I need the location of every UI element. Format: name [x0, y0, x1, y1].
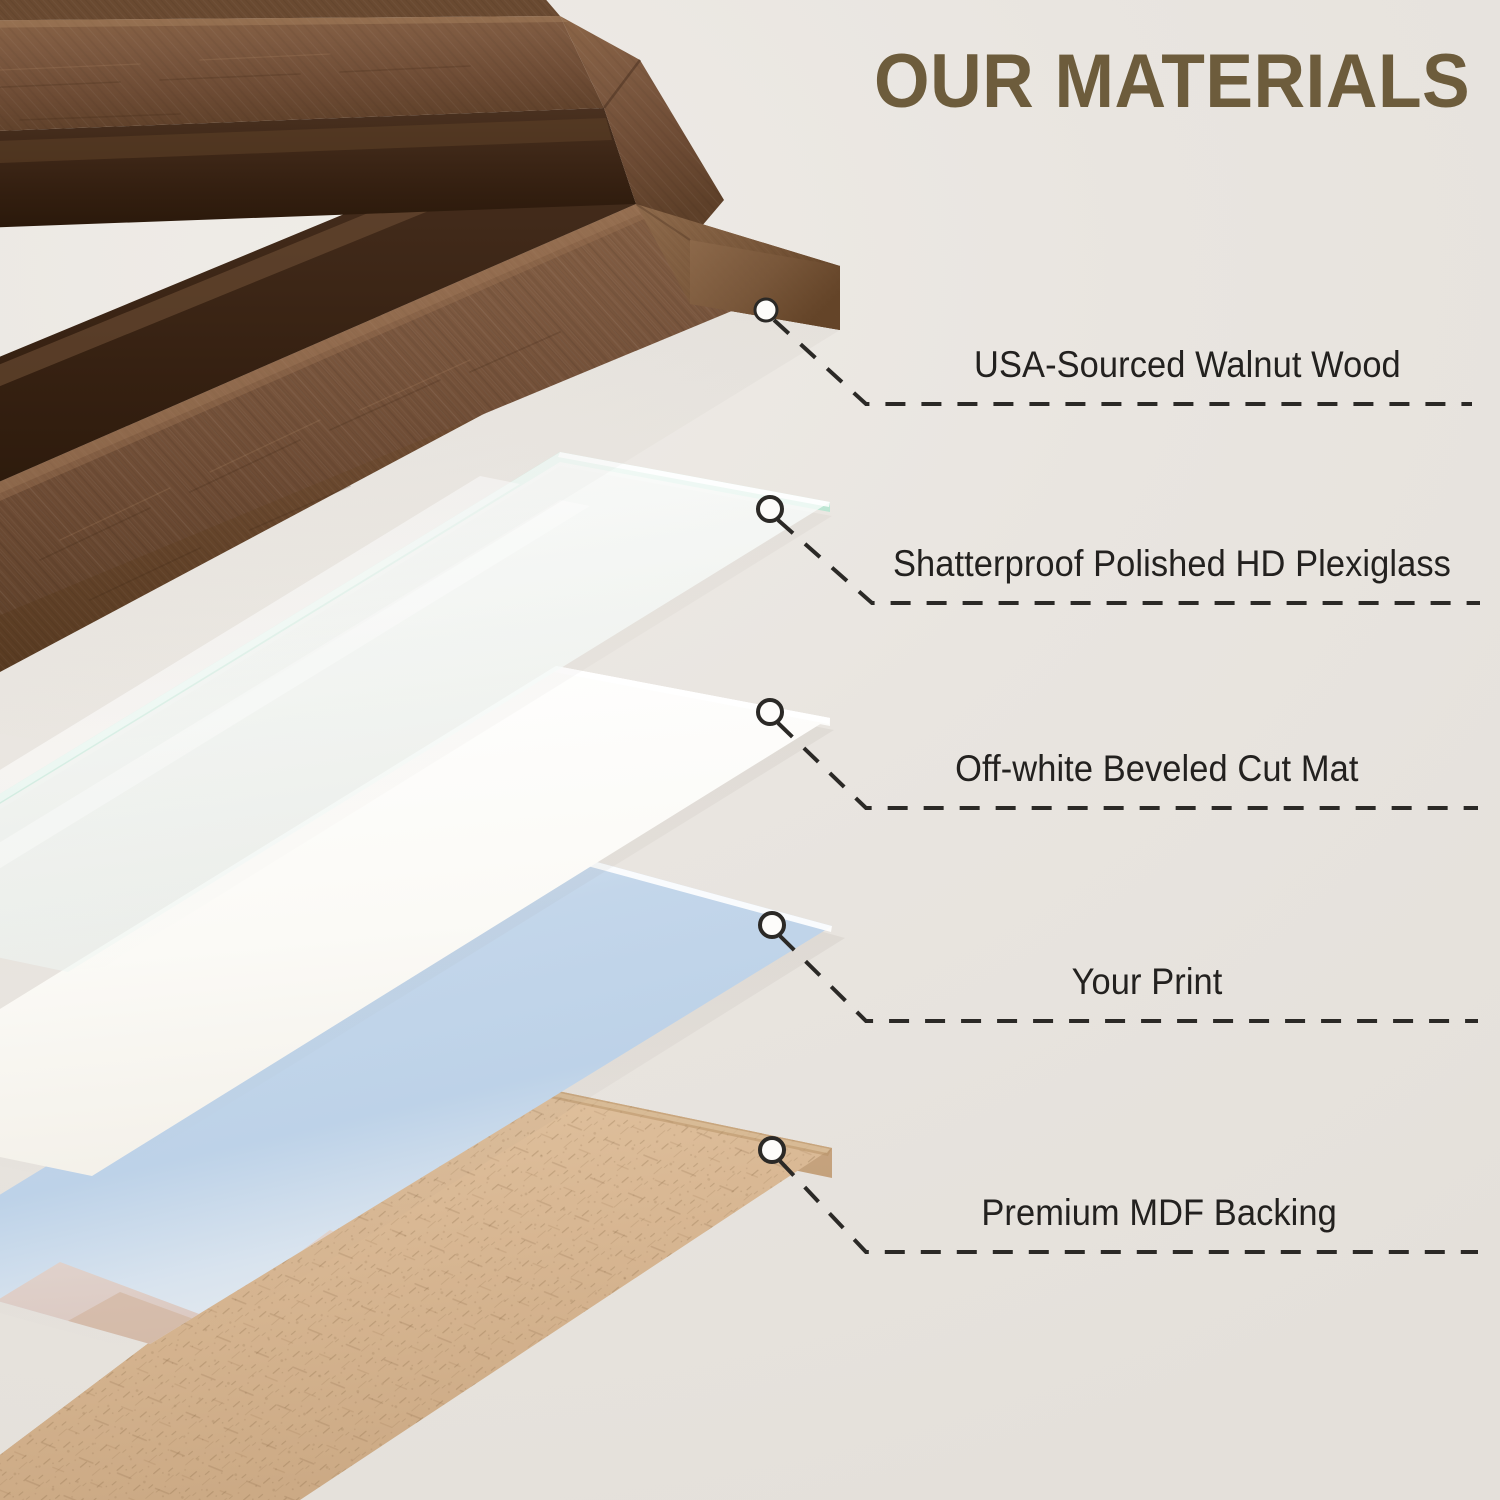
callout-leader-line-mdf-backing [0, 0, 1500, 1500]
materials-infographic: OUR MATERIALS USA-Sourced Walnut Wood Sh… [0, 0, 1500, 1500]
callout-marker-mdf-backing[interactable] [760, 1138, 784, 1162]
callout-label-mdf-backing: Premium MDF Backing [981, 1194, 1337, 1231]
